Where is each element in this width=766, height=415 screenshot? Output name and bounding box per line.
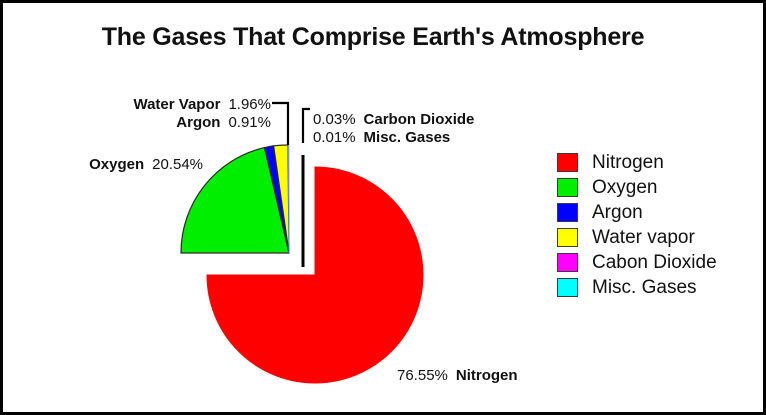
leader-bracket-right: [303, 109, 310, 143]
legend-swatch-oxygen: [557, 178, 578, 197]
legend-item-misc-gases: Misc. Gases: [557, 275, 717, 300]
slice-label-misc-gases-name: Misc. Gases: [364, 129, 451, 146]
legend-item-carbon-dioxide: Cabon Dioxide: [557, 250, 717, 275]
slice-label-misc-gases: 0.01%Misc. Gases: [313, 129, 450, 146]
chart-legend: Nitrogen Oxygen Argon Water vapor Cabon …: [557, 150, 717, 300]
slice-label-argon: Argon0.91%: [3, 114, 271, 131]
slice-label-carbon-dioxide-name: Carbon Dioxide: [364, 111, 475, 128]
legend-label-argon: Argon: [592, 202, 643, 224]
legend-label-carbon-dioxide: Cabon Dioxide: [592, 252, 717, 274]
slice-label-carbon-dioxide: 0.03%Carbon Dioxide: [313, 111, 474, 128]
slice-label-nitrogen: 76.55%Nitrogen: [397, 367, 518, 384]
legend-swatch-misc-gases: [557, 278, 578, 297]
slice-label-argon-name: Argon: [176, 114, 220, 131]
slice-label-nitrogen-name: Nitrogen: [456, 367, 518, 384]
slice-label-oxygen-pct: 20.54%: [152, 156, 203, 173]
legend-label-misc-gases: Misc. Gases: [592, 277, 697, 299]
leader-bracket-left: [272, 103, 288, 145]
slice-label-nitrogen-pct: 76.55%: [397, 367, 448, 384]
legend-item-nitrogen: Nitrogen: [557, 150, 717, 175]
legend-label-nitrogen: Nitrogen: [592, 152, 664, 174]
legend-swatch-water-vapor: [557, 228, 578, 247]
slice-label-oxygen: Oxygen20.54%: [3, 156, 203, 173]
legend-swatch-carbon-dioxide: [557, 253, 578, 272]
legend-swatch-argon: [557, 203, 578, 222]
legend-item-oxygen: Oxygen: [557, 175, 717, 200]
legend-item-argon: Argon: [557, 200, 717, 225]
legend-swatch-nitrogen: [557, 153, 578, 172]
slice-label-carbon-dioxide-pct: 0.03%: [313, 111, 356, 128]
slice-label-water-vapor-name: Water Vapor: [133, 96, 220, 113]
chart-canvas: The Gases That Comprise Earth's Atmosphe…: [0, 0, 766, 415]
legend-label-oxygen: Oxygen: [592, 177, 657, 199]
legend-label-water-vapor: Water vapor: [592, 227, 695, 249]
legend-item-water-vapor: Water vapor: [557, 225, 717, 250]
slice-label-argon-pct: 0.91%: [228, 114, 271, 131]
slice-label-water-vapor-pct: 1.96%: [228, 96, 271, 113]
slice-label-water-vapor: Water Vapor1.96%: [3, 96, 271, 113]
slice-label-oxygen-name: Oxygen: [89, 156, 144, 173]
slice-label-misc-gases-pct: 0.01%: [313, 129, 356, 146]
